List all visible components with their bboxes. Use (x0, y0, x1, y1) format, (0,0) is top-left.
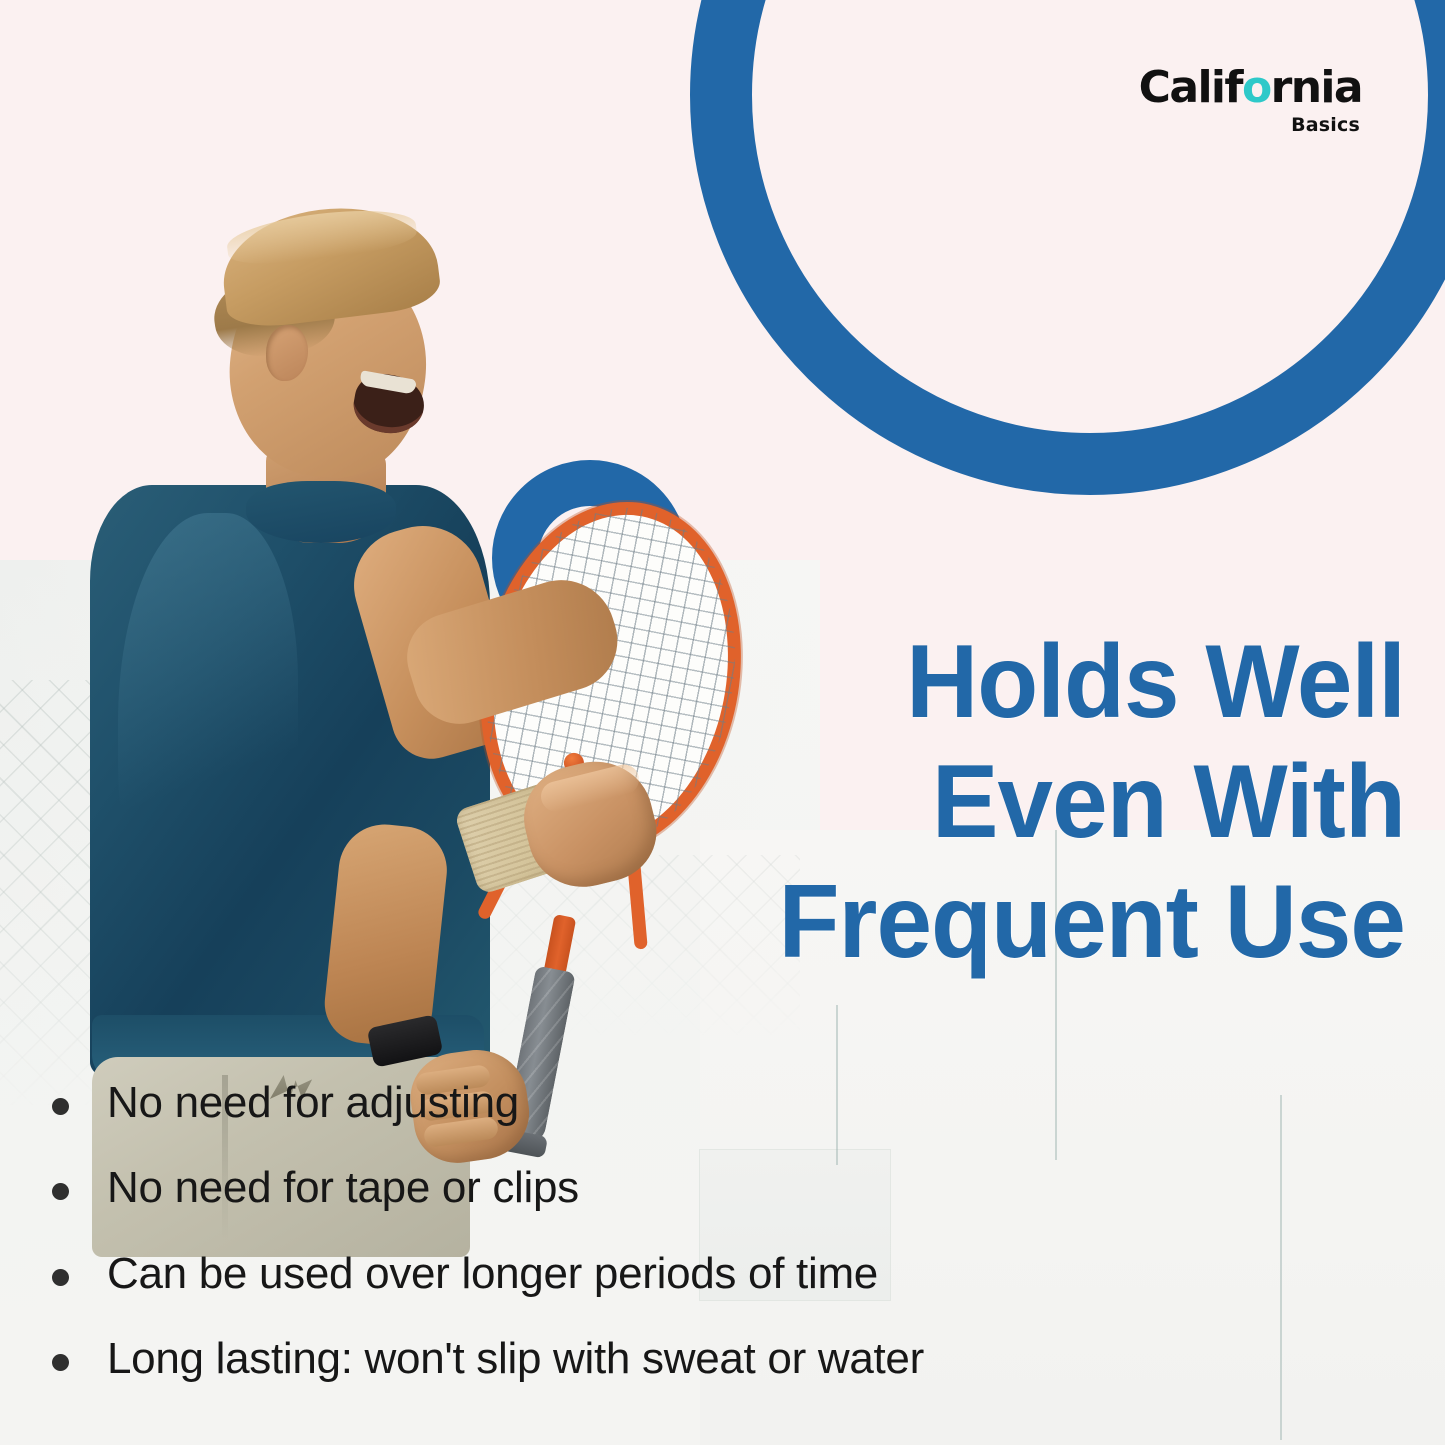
player-forearm (396, 567, 630, 736)
bullet-dot-icon (52, 1183, 69, 1200)
bullet-label: No need for adjusting (107, 1078, 519, 1127)
bullet-label: No need for tape or clips (107, 1163, 579, 1212)
headline: Holds Well Even With Frequent Use (632, 630, 1405, 990)
bullet-dot-icon (52, 1354, 69, 1371)
logo-teal-o: o (1242, 62, 1271, 113)
brand-logo-subtitle: Basics (1122, 114, 1360, 136)
bullet-dot-icon (52, 1269, 69, 1286)
list-item: No need for adjusting (52, 1078, 1232, 1127)
headline-line-3: Frequent Use (632, 870, 1405, 974)
feature-bullet-list: No need for adjusting No need for tape o… (52, 1078, 1232, 1419)
brand-logo-wordmark: California (1122, 66, 1362, 110)
list-item: Can be used over longer periods of time (52, 1249, 1232, 1298)
tennis-player-arms (70, 195, 690, 1205)
bullet-label: Long lasting: won't slip with sweat or w… (107, 1334, 924, 1383)
wall-seam (1280, 1095, 1282, 1440)
headline-line-2: Even With (632, 750, 1405, 854)
logo-text-before-o: Calif (1139, 62, 1242, 113)
brand-logo: California Basics (1122, 66, 1362, 146)
product-feature-banner: California Basics Holds Well Even With F… (0, 0, 1445, 1445)
bullet-label: Can be used over longer periods of time (107, 1249, 878, 1298)
list-item: No need for tape or clips (52, 1163, 1232, 1212)
headline-line-1: Holds Well (632, 630, 1405, 734)
bullet-dot-icon (52, 1098, 69, 1115)
logo-text-after-o: rnia (1271, 62, 1362, 113)
list-item: Long lasting: won't slip with sweat or w… (52, 1334, 1232, 1383)
